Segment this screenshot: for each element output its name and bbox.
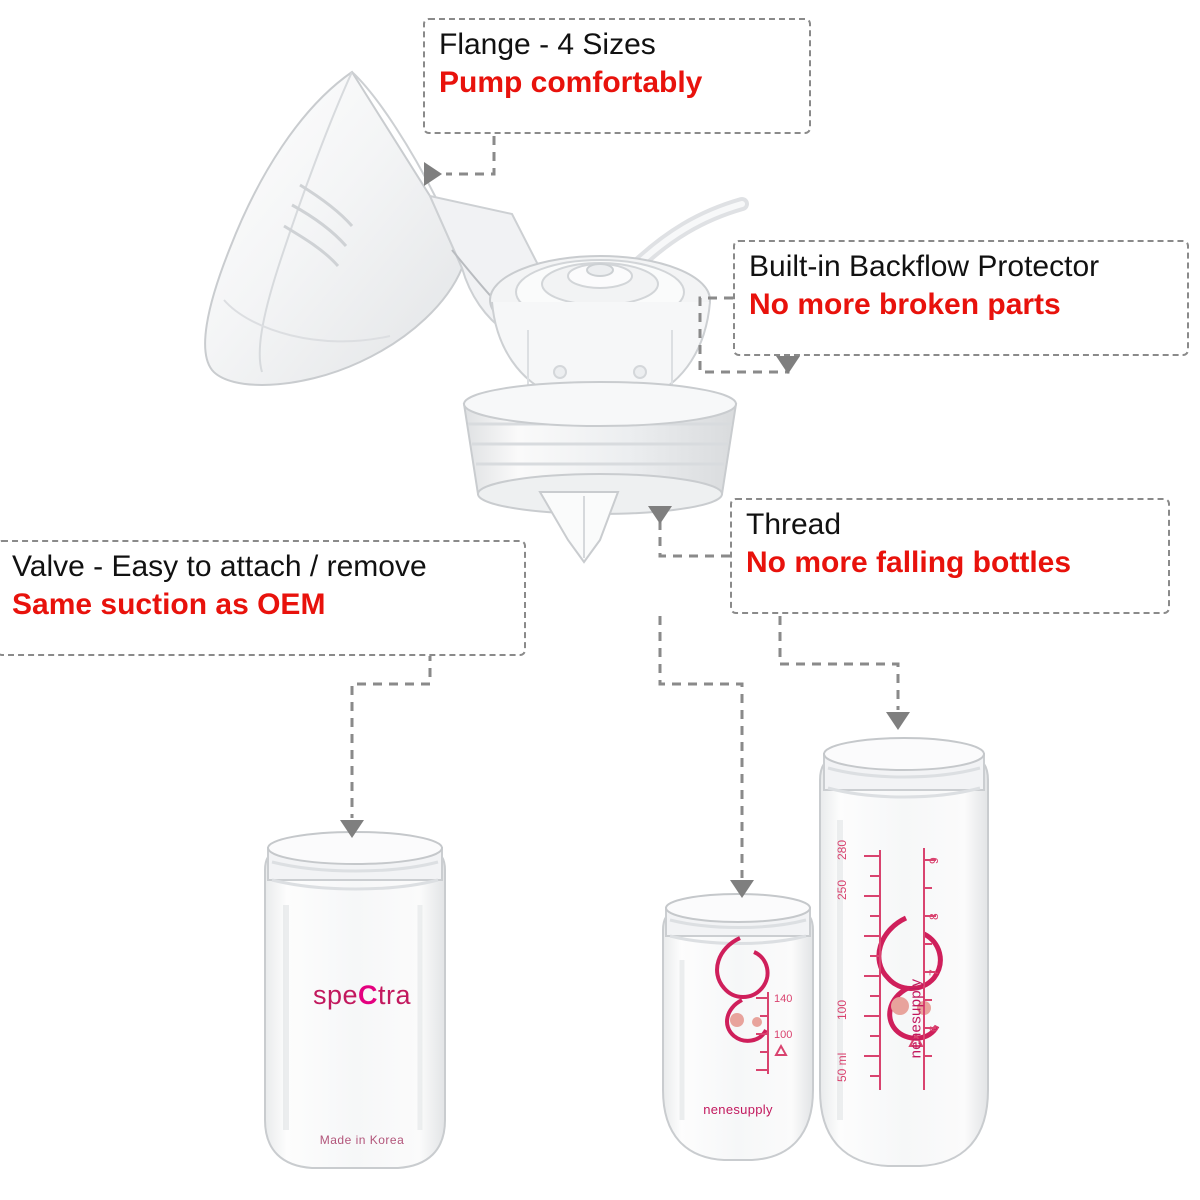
callout-thread-title: Thread [746, 506, 1154, 544]
svg-text:280: 280 [835, 840, 849, 860]
callout-valve-benefit: Same suction as OEM [12, 586, 510, 624]
callout-backflow-title: Built-in Backflow Protector [749, 248, 1173, 286]
nene-large-bottle: 280 250 100 50 ml 9 8 7 6 [820, 738, 988, 1166]
svg-text:100: 100 [835, 1000, 849, 1020]
callout-flange: Flange - 4 Sizes Pump comfortably [423, 18, 811, 134]
svg-text:250: 250 [835, 880, 849, 900]
svg-text:50 ml: 50 ml [835, 1053, 849, 1082]
svg-text:100: 100 [774, 1029, 792, 1041]
callout-backflow-protector: Built-in Backflow Protector No more brok… [733, 240, 1189, 356]
diagram-canvas: 140 100 [0, 0, 1200, 1200]
callout-flange-benefit: Pump comfortably [439, 64, 795, 102]
svg-text:7: 7 [927, 969, 941, 976]
svg-text:9: 9 [927, 857, 941, 864]
callout-flange-title: Flange - 4 Sizes [439, 26, 795, 64]
spectra-bottle [265, 832, 445, 1168]
backflow-protector-part [490, 256, 710, 400]
valve-part [540, 492, 618, 562]
nene-small-bottle: 140 100 [663, 894, 813, 1160]
svg-text:140: 140 [774, 993, 792, 1005]
callout-thread: Thread No more falling bottles [730, 498, 1170, 614]
svg-text:6: 6 [927, 1025, 941, 1032]
callout-valve-title: Valve - Easy to attach / remove [12, 548, 510, 586]
svg-text:8: 8 [927, 913, 941, 920]
callout-valve: Valve - Easy to attach / remove Same suc… [0, 540, 526, 656]
tubing-part [636, 204, 742, 266]
callout-thread-benefit: No more falling bottles [746, 544, 1154, 582]
callout-backflow-benefit: No more broken parts [749, 286, 1173, 324]
